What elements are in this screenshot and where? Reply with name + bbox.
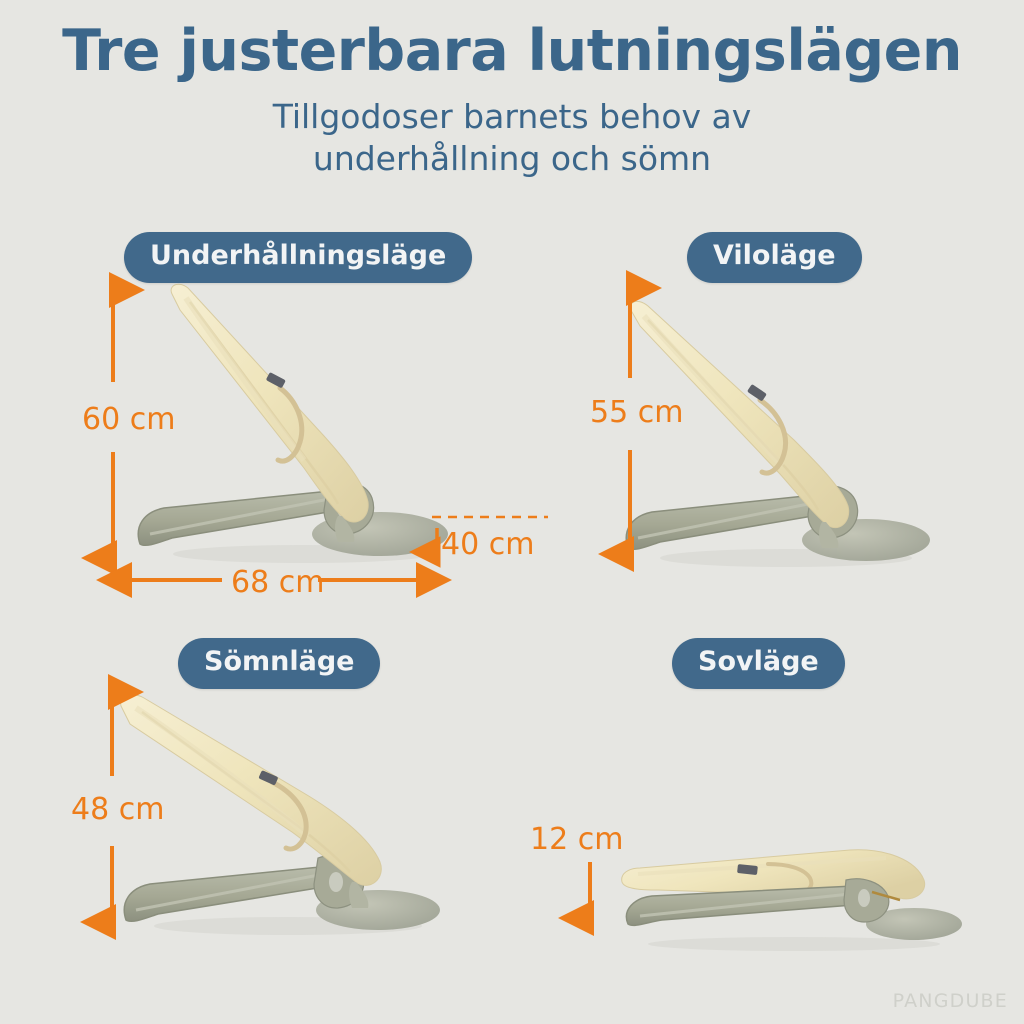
measurement-label-width-entertainment: 68 cm [231, 568, 324, 598]
page-title: Tre justerbara lutningslägen [0, 22, 1024, 82]
product-image-rest-mode [618, 290, 938, 576]
measurement-label-height-entertainment: 60 cm [82, 405, 175, 435]
badge-sleep-mode[interactable]: Sömnläge [178, 638, 380, 689]
badge-flat-sleep-mode[interactable]: Sovläge [672, 638, 845, 689]
measurement-label-height-flat-sleep: 12 cm [530, 825, 623, 855]
page-subtitle: Tillgodoser barnets behov av underhållni… [0, 96, 1024, 180]
badge-entertainment-mode[interactable]: Underhållningsläge [124, 232, 472, 283]
product-image-flat-sleep-mode [618, 828, 962, 952]
measurement-label-depth-entertainment: 40 cm [441, 530, 534, 560]
subtitle-line-1: Tillgodoser barnets behov av [273, 97, 752, 136]
brand-watermark: PANGDUBE [893, 990, 1008, 1012]
subtitle-line-2: underhållning och sömn [313, 139, 711, 178]
measurement-label-height-rest: 55 cm [590, 398, 683, 428]
badge-rest-mode[interactable]: Viloläge [687, 232, 862, 283]
header: Tre justerbara lutningslägen Tillgodoser… [0, 0, 1024, 180]
measurement-label-height-sleep: 48 cm [71, 795, 164, 825]
product-image-entertainment-mode [128, 276, 458, 576]
